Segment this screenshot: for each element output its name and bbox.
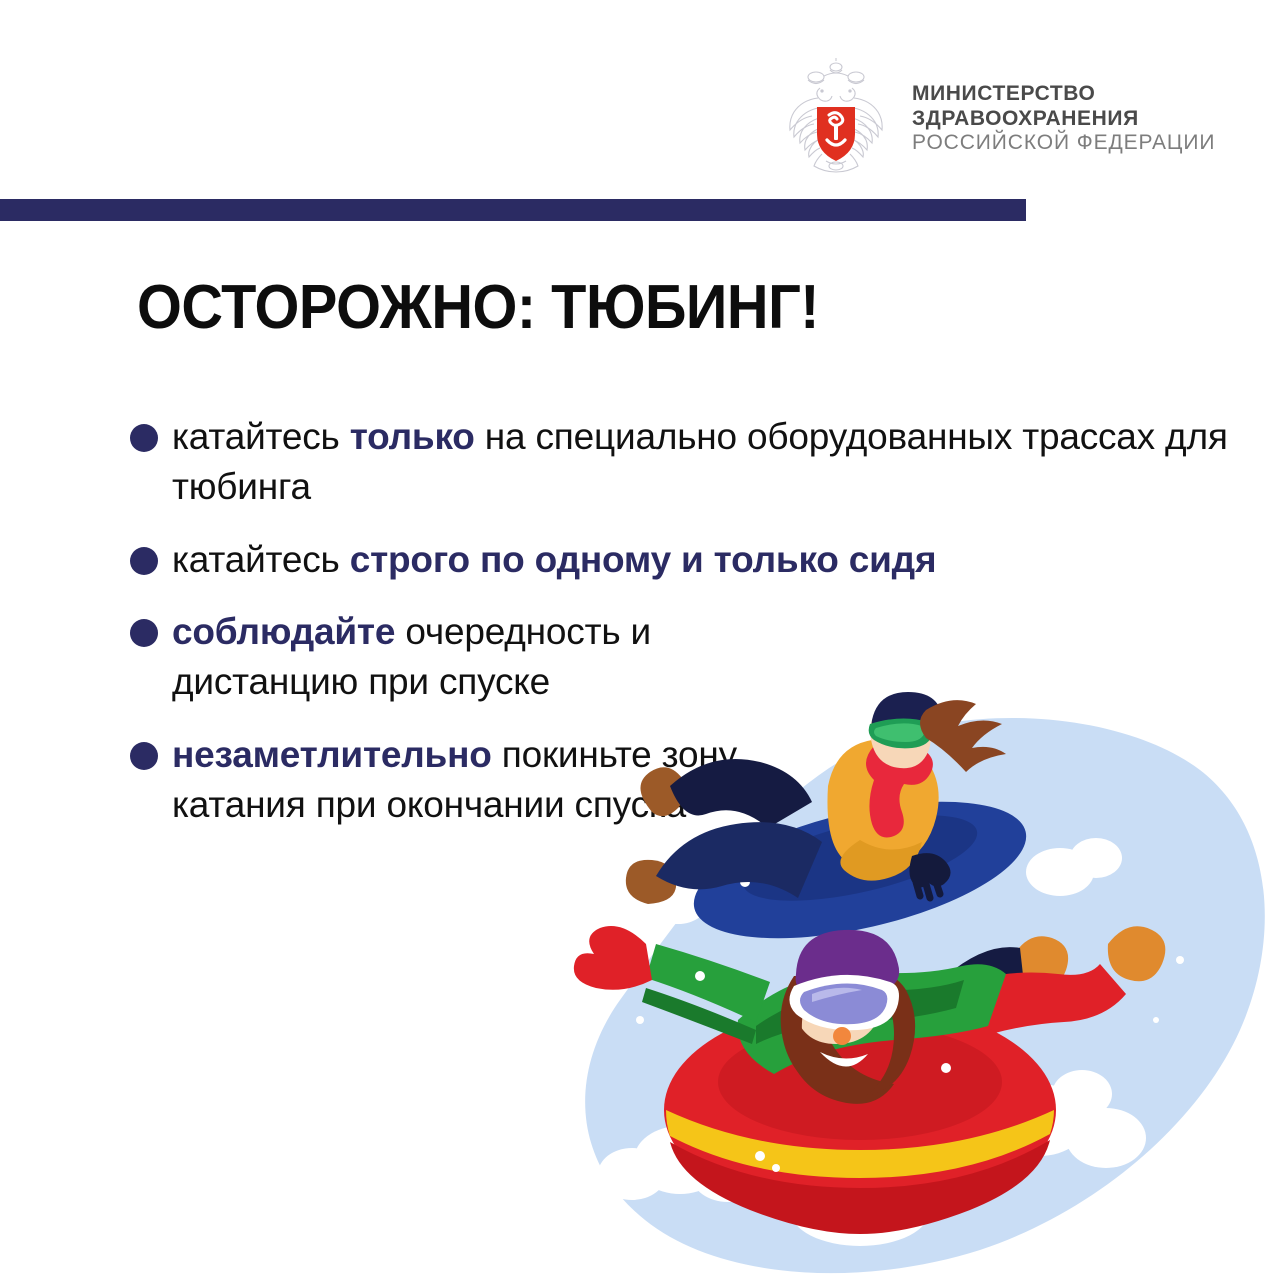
- tube-bottom: [664, 1002, 1056, 1234]
- list-item-pre: катайтесь: [172, 539, 350, 580]
- list-item-bold: соблюдайте: [172, 611, 395, 652]
- leg-bottom-far: [890, 977, 1014, 1031]
- boot-bottom-far: [1012, 936, 1068, 988]
- coat-of-arms-icon: [782, 58, 890, 176]
- snow-spray-bottom: [598, 1070, 1146, 1246]
- boot-bottom-near: [1108, 926, 1165, 981]
- hair-bottom-front-right: [866, 973, 915, 1096]
- list-item-text: катайтесь только на специально оборудова…: [172, 412, 1252, 513]
- list-item: катайтесь строго по одному и только сидя: [130, 535, 1260, 585]
- hair-bottom-back: [782, 982, 894, 1104]
- jacket-bottom-shade: [756, 980, 964, 1044]
- list-item-bold: только: [350, 416, 475, 457]
- list-item-text: соблюдайте очередность и дистанцию при с…: [172, 607, 832, 708]
- rules-list: катайтесь только на специально оборудова…: [130, 412, 1260, 830]
- ministry-logo-text: МИНИСТЕРСТВО ЗДРАВООХРАНЕНИЯ РОССИЙСКОЙ …: [912, 78, 1215, 156]
- list-item: катайтесь только на специально оборудова…: [130, 412, 1260, 513]
- list-item-bold: строго по одному и только сидя: [350, 539, 937, 580]
- list-item-bold: незаметлительно: [172, 734, 492, 775]
- snow-spray-top: [630, 838, 1122, 924]
- rider-bottom: [574, 926, 1165, 1246]
- hat-bottom: [796, 930, 900, 992]
- arm-bottom-shade: [642, 988, 756, 1044]
- boot-top-near: [626, 860, 676, 904]
- logo-line-ministry: МИНИСТЕРСТВО: [912, 82, 1215, 107]
- bullet-dot-icon: [130, 424, 158, 452]
- list-item-text: катайтесь строго по одному и только сидя: [172, 535, 936, 585]
- ministry-logo: МИНИСТЕРСТВО ЗДРАВООХРАНЕНИЯ РОССИЙСКОЙ …: [782, 58, 1215, 176]
- pants-bottom: [890, 964, 1126, 1058]
- bullet-dot-icon: [130, 742, 158, 770]
- jacket-bottom: [738, 964, 1006, 1074]
- snow-flecks: [636, 956, 1184, 1024]
- hair-bottom-front: [781, 976, 826, 1092]
- header-divider-bar: [0, 199, 1026, 221]
- list-item: соблюдайте очередность и дистанцию при с…: [130, 607, 1260, 708]
- list-item: незаметлительно покиньте зону катания пр…: [130, 730, 1260, 831]
- leg-top-near: [656, 822, 822, 898]
- smile-bottom: [820, 1052, 868, 1067]
- jacket-top-shade: [840, 840, 922, 881]
- leg-bottom-far-2: [946, 947, 1024, 1006]
- logo-line-federation: РОССИЙСКОЙ ФЕДЕРАЦИИ: [912, 131, 1215, 156]
- header: МИНИСТЕРСТВО ЗДРАВООХРАНЕНИЯ РОССИЙСКОЙ …: [0, 0, 1280, 200]
- page-title: ОСТОРОЖНО: ТЮБИНГ!: [137, 272, 819, 343]
- list-item-pre: катайтесь: [172, 416, 350, 457]
- nose-bottom: [833, 1027, 851, 1045]
- list-item-text: незаметлительно покиньте зону катания пр…: [172, 730, 832, 831]
- goggles-bottom-lens: [800, 983, 887, 1024]
- bullet-dot-icon: [130, 619, 158, 647]
- face-bottom: [793, 958, 884, 1044]
- goggles-bottom: [789, 975, 899, 1030]
- mitten-bottom: [574, 926, 652, 990]
- glove-top: [909, 853, 950, 887]
- arm-bottom: [646, 944, 770, 1022]
- logo-line-healthcare: ЗДРАВООХРАНЕНИЯ: [912, 107, 1215, 132]
- bullet-dot-icon: [130, 547, 158, 575]
